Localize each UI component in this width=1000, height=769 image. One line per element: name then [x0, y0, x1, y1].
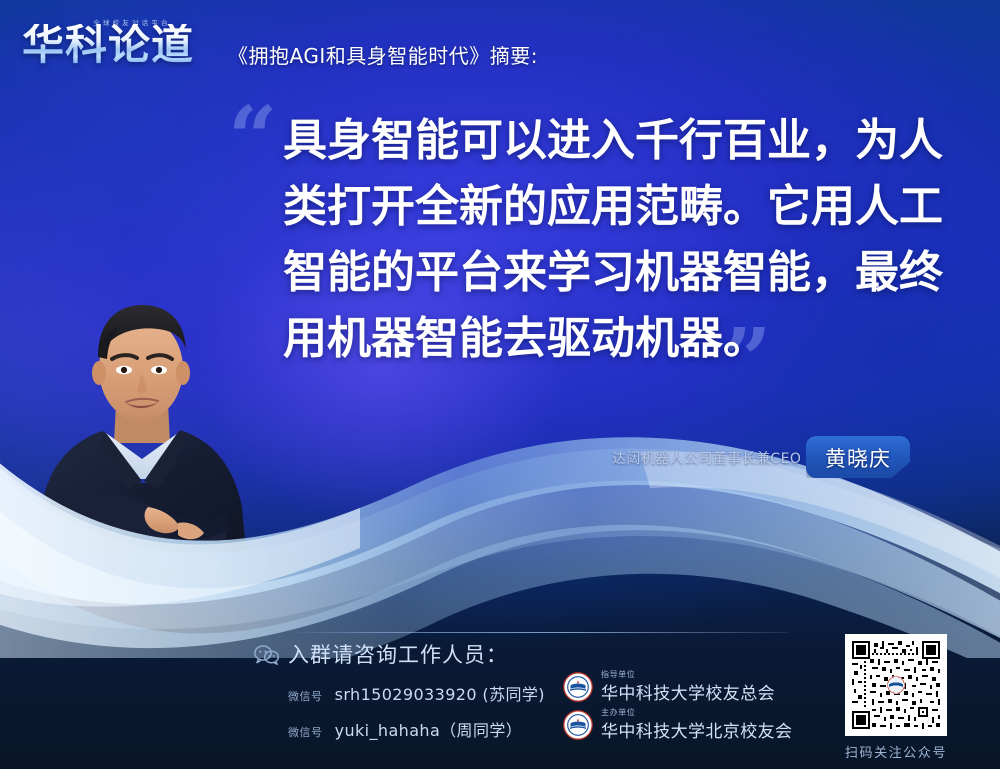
- logo-wordmark: 华科论道: [22, 24, 194, 66]
- quote-line: 用机器智能去驱动机器。: [283, 306, 943, 372]
- qr-caption: 扫码关注公众号: [826, 742, 966, 761]
- contact-row: 微信号 yuki_hahaha（周同学）: [288, 717, 522, 741]
- quote-text: 具身智能可以进入千行百业，为人 类打开全新的应用范畴。它用人工 智能的平台来学习…: [283, 108, 943, 372]
- brand-logo: 全球校友对话平台 华科论道: [22, 16, 222, 76]
- poster-canvas: 全球校友对话平台 华科论道 《拥抱AGI和具身智能时代》摘要:: [0, 0, 1000, 769]
- contact-label: 微信号: [288, 726, 323, 739]
- poster-header: 全球校友对话平台 华科论道 《拥抱AGI和具身智能时代》摘要:: [0, 0, 1000, 92]
- speaker-portrait: [28, 283, 256, 551]
- wechat-icon: [254, 644, 280, 666]
- speaker-name: 黄晓庆: [806, 437, 910, 479]
- contact-value[interactable]: yuki_hahaha（周同学）: [335, 721, 523, 740]
- quote-line: 智能的平台来学习机器智能，最终: [283, 240, 943, 306]
- quote-line: 具身智能可以进入千行百业，为人: [283, 108, 943, 174]
- quote-open-mark: “: [228, 96, 277, 182]
- speaker-role: 达闼机器人公司董事长兼CEO: [612, 448, 801, 468]
- contact-label: 微信号: [288, 690, 323, 703]
- qr-code[interactable]: [845, 634, 947, 736]
- footer-heading: 入群请咨询工作人员：: [288, 639, 508, 669]
- contact-value[interactable]: srh15029033920 (苏同学): [335, 685, 545, 704]
- quote-line: 类打开全新的应用范畴。它用人工: [283, 174, 943, 240]
- hust-emblem-icon: [563, 672, 593, 702]
- contact-row: 微信号 srh15029033920 (苏同学): [288, 681, 545, 705]
- organization-name: 华中科技大学校友总会: [601, 679, 775, 704]
- hust-emblem-icon: [563, 710, 593, 740]
- page-title: 《拥抱AGI和具身智能时代》摘要:: [228, 40, 538, 69]
- organization-name: 华中科技大学北京校友会: [601, 717, 792, 742]
- footer-divider: [288, 632, 788, 633]
